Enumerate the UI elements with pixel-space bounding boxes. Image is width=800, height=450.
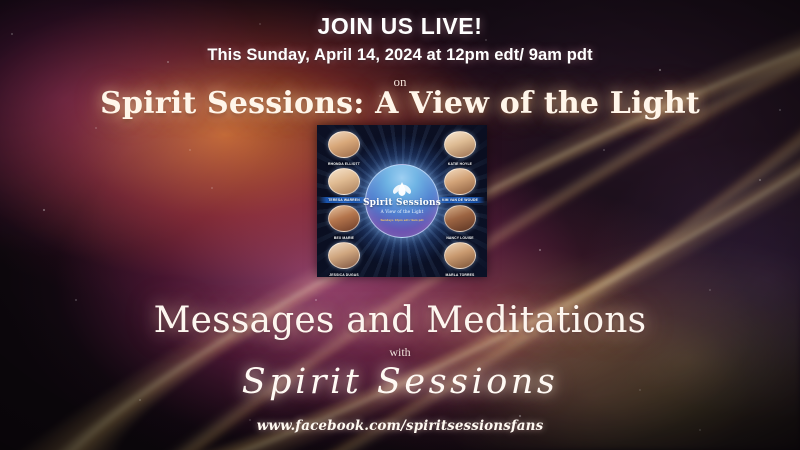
badge-schedule: Sundays 12pm edt / 9am pdt (380, 218, 423, 222)
avatar (328, 168, 360, 195)
badge-subtitle: A View of the Light (381, 209, 424, 214)
host-name: BEX MARIE (319, 236, 369, 240)
host-card[interactable]: JESSICA DUGAS (321, 242, 367, 277)
avatar (328, 131, 360, 158)
connector-with: with (0, 345, 800, 360)
host-card[interactable]: KATIE HOYLE (437, 131, 483, 166)
host-name: TERESA WARREN (319, 197, 369, 203)
host-column-right: KATIE HOYLE KIM VAN DE WOUDE NANCY LOUIS… (437, 131, 483, 277)
host-name: RHONDA ELLIOTT (319, 162, 369, 166)
host-name: JESSICA DUGAS (319, 273, 369, 277)
avatar (328, 242, 360, 269)
host-grid-panel: RHONDA ELLIOTT TERESA WARREN BEX MARIE J… (317, 125, 487, 277)
facebook-url[interactable]: www.facebook.com/spiritsessionsfans (0, 418, 800, 434)
host-card[interactable]: TERESA WARREN (321, 168, 367, 203)
angel-wings-icon (391, 180, 413, 197)
avatar (444, 205, 476, 232)
badge-title: Spirit Sessions (363, 198, 441, 208)
main-title: Messages and Meditations (0, 300, 800, 341)
series-title: Spirit Sessions: A View of the Light (0, 86, 800, 121)
host-column-left: RHONDA ELLIOTT TERESA WARREN BEX MARIE J… (321, 131, 367, 277)
headline-join-us-live: JOIN US LIVE! (0, 13, 800, 40)
spirit-sessions-logo-badge: Spirit Sessions A View of the Light Sund… (365, 164, 439, 238)
host-card[interactable]: RHONDA ELLIOTT (321, 131, 367, 166)
host-card[interactable]: NANCY LOUISE (437, 205, 483, 240)
poster-content: JOIN US LIVE! This Sunday, April 14, 202… (0, 0, 800, 450)
event-date-time: This Sunday, April 14, 2024 at 12pm edt/… (0, 46, 800, 65)
avatar (444, 168, 476, 195)
event-promo-poster: JOIN US LIVE! This Sunday, April 14, 202… (0, 0, 800, 450)
host-name: KIM VAN DE WOUDE (435, 197, 485, 203)
host-card[interactable]: KIM VAN DE WOUDE (437, 168, 483, 203)
brand-wordmark: Spirit Sessions (0, 362, 800, 402)
host-card[interactable]: MARLA TORRES (437, 242, 483, 277)
host-name: MARLA TORRES (435, 273, 485, 277)
avatar (444, 242, 476, 269)
host-name: NANCY LOUISE (435, 236, 485, 240)
host-card[interactable]: BEX MARIE (321, 205, 367, 240)
host-name: KATIE HOYLE (435, 162, 485, 166)
avatar (444, 131, 476, 158)
avatar (328, 205, 360, 232)
